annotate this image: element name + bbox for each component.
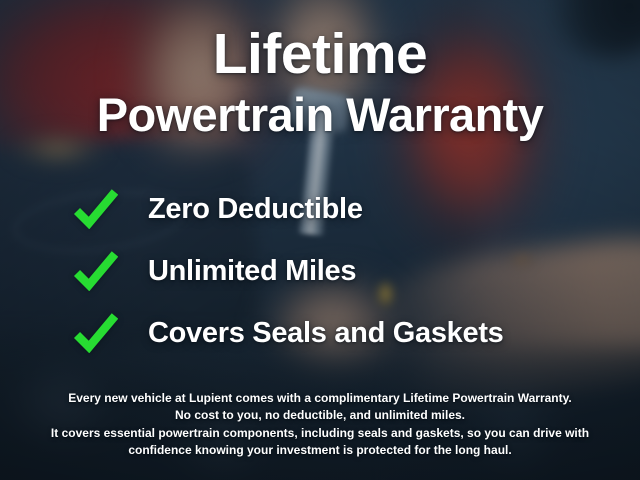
warranty-promo-banner: Lifetime Powertrain Warranty Zero Deduct…	[0, 0, 640, 480]
banner-content: Lifetime Powertrain Warranty Zero Deduct…	[0, 0, 640, 480]
body-copy-line-1: Every new vehicle at Lupient comes with …	[26, 390, 614, 407]
feature-label: Unlimited Miles	[148, 255, 356, 288]
check-icon	[74, 189, 118, 229]
feature-label: Zero Deductible	[148, 193, 363, 226]
body-copy-line-2: No cost to you, no deductible, and unlim…	[26, 407, 614, 424]
check-icon	[74, 313, 118, 353]
headline: Lifetime Powertrain Warranty	[0, 26, 640, 138]
feature-item-covers-seals-and-gaskets: Covers Seals and Gaskets	[0, 302, 640, 364]
feature-label: Covers Seals and Gaskets	[148, 317, 504, 350]
headline-line-1: Lifetime	[0, 26, 640, 83]
headline-line-2: Powertrain Warranty	[0, 91, 640, 138]
feature-item-unlimited-miles: Unlimited Miles	[0, 240, 640, 302]
body-copy-line-4: confidence knowing your investment is pr…	[26, 442, 614, 459]
feature-item-zero-deductible: Zero Deductible	[0, 178, 640, 240]
check-icon	[74, 251, 118, 291]
body-copy: Every new vehicle at Lupient comes with …	[0, 390, 640, 460]
feature-list: Zero Deductible Unlimited Miles Covers S…	[0, 178, 640, 364]
body-copy-line-3: It covers essential powertrain component…	[26, 425, 614, 442]
